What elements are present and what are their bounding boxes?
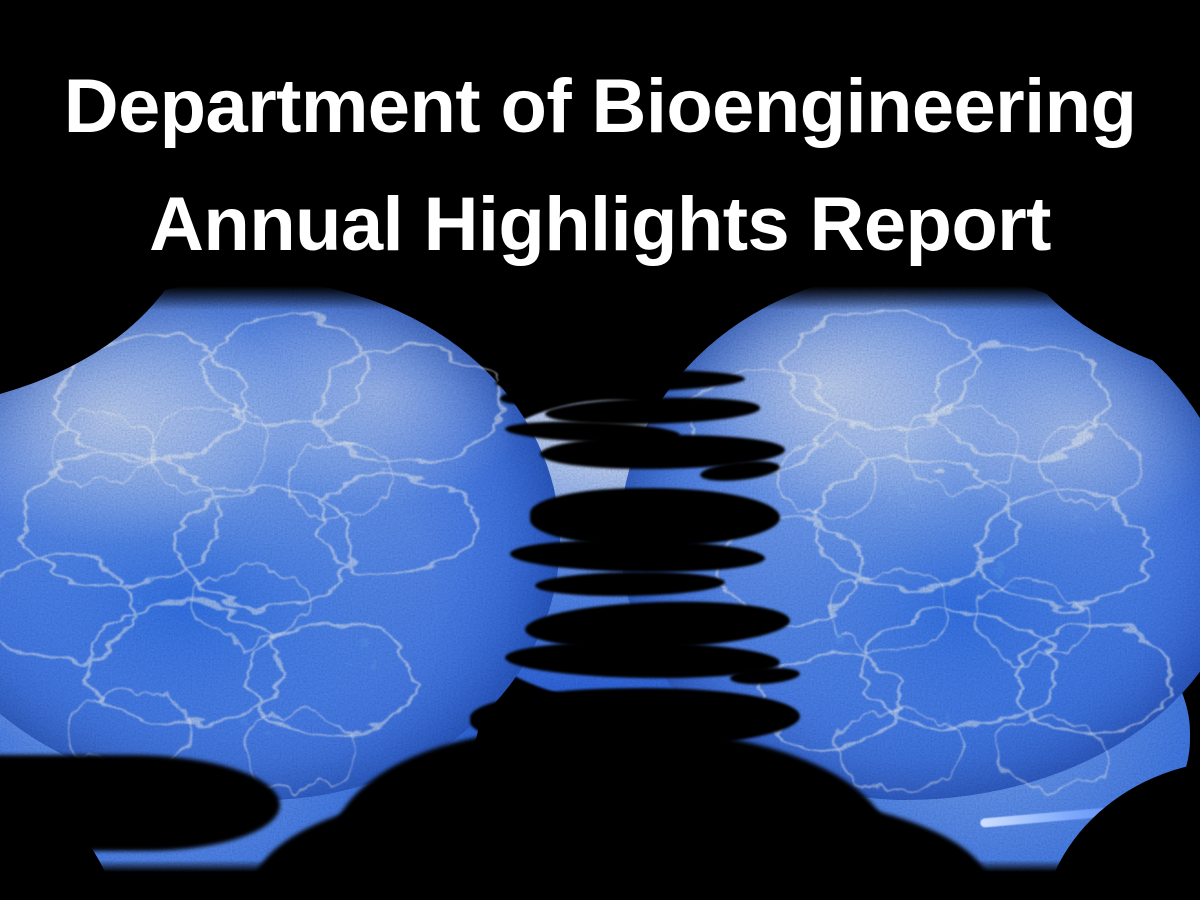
center-gap-2 <box>500 388 553 406</box>
center-gap-7 <box>530 488 780 546</box>
cell-micrograph-figure <box>0 250 1200 900</box>
title-slide: Department of Bioengineering Annual High… <box>0 0 1200 900</box>
bottom-fade-mask <box>0 860 1200 900</box>
title-line-1: Department of Bioengineering <box>0 48 1200 166</box>
slide-title: Department of Bioengineering Annual High… <box>0 48 1200 284</box>
